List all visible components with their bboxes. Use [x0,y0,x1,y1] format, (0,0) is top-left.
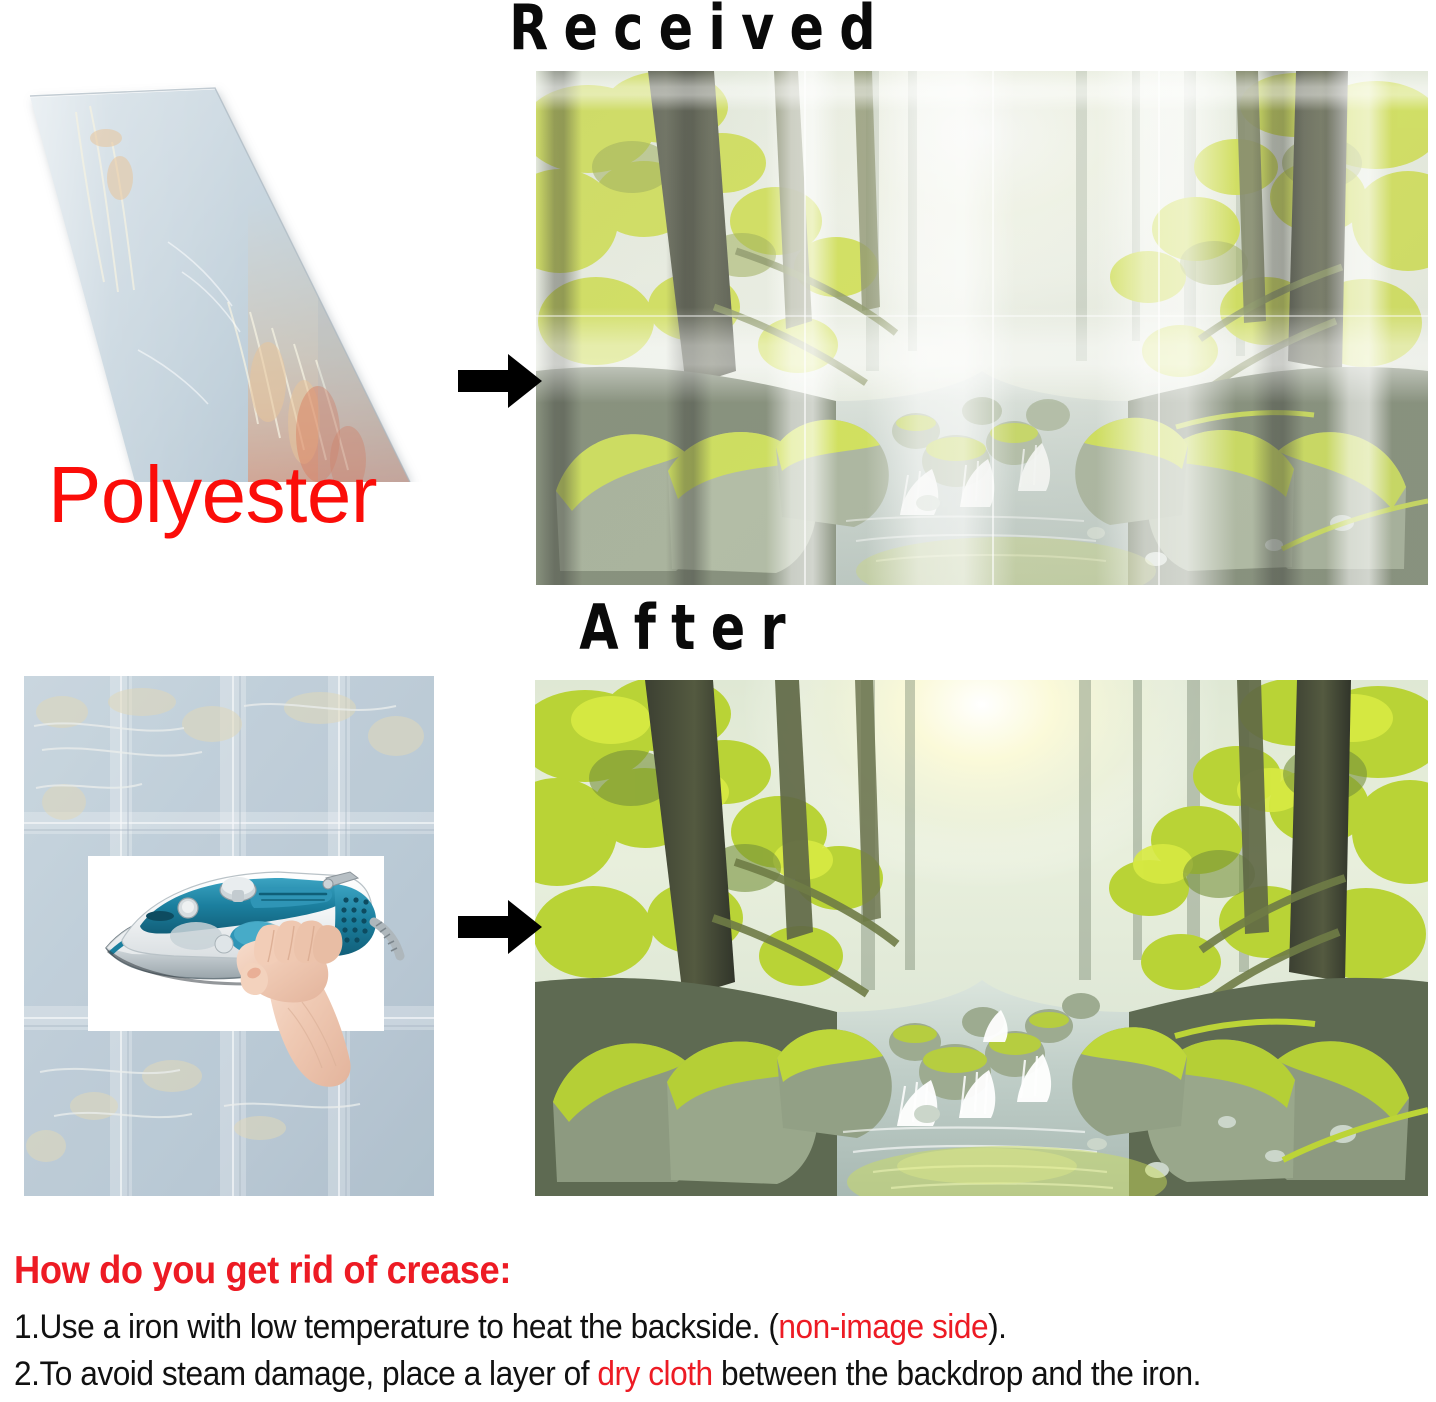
care-line-2-prefix: 2.To avoid steam damage, place a layer o… [14,1355,597,1393]
care-line-2-highlight: dry cloth [597,1355,712,1393]
received-haze-overlay [536,71,1428,585]
folded-fabric-image [18,82,428,482]
product-infographic: Received [0,0,1436,1402]
forest-stream-scene-smooth [535,680,1428,1196]
right-arrow-icon [458,898,542,956]
received-section-heading: Received [470,0,929,60]
care-line-1-highlight: non-image side [778,1308,988,1346]
care-instructions-title: How do you get rid of crease: [14,1248,1335,1294]
care-instruction-line-1: 1.Use a iron with low temperature to hea… [14,1304,1335,1351]
ironing-demo-panel [24,676,434,1196]
fabric-detail [18,82,428,482]
care-instructions: How do you get rid of crease: 1.Use a ir… [14,1248,1434,1398]
received-backdrop-photo [536,71,1428,585]
care-instruction-line-2: 2.To avoid steam damage, place a layer o… [14,1351,1335,1398]
after-backdrop-photo [535,680,1428,1196]
material-label-polyester: Polyester [48,452,377,538]
after-section-heading: After [485,596,895,660]
iron-demo-card [88,856,384,1031]
care-line-1-suffix: ). [988,1308,1006,1346]
care-line-2-suffix: between the backdrop and the iron. [713,1355,1201,1393]
care-line-1-prefix: 1.Use a iron with low temperature to hea… [14,1308,778,1346]
right-arrow-icon [458,352,542,410]
folded-fabric-icon [18,82,428,482]
